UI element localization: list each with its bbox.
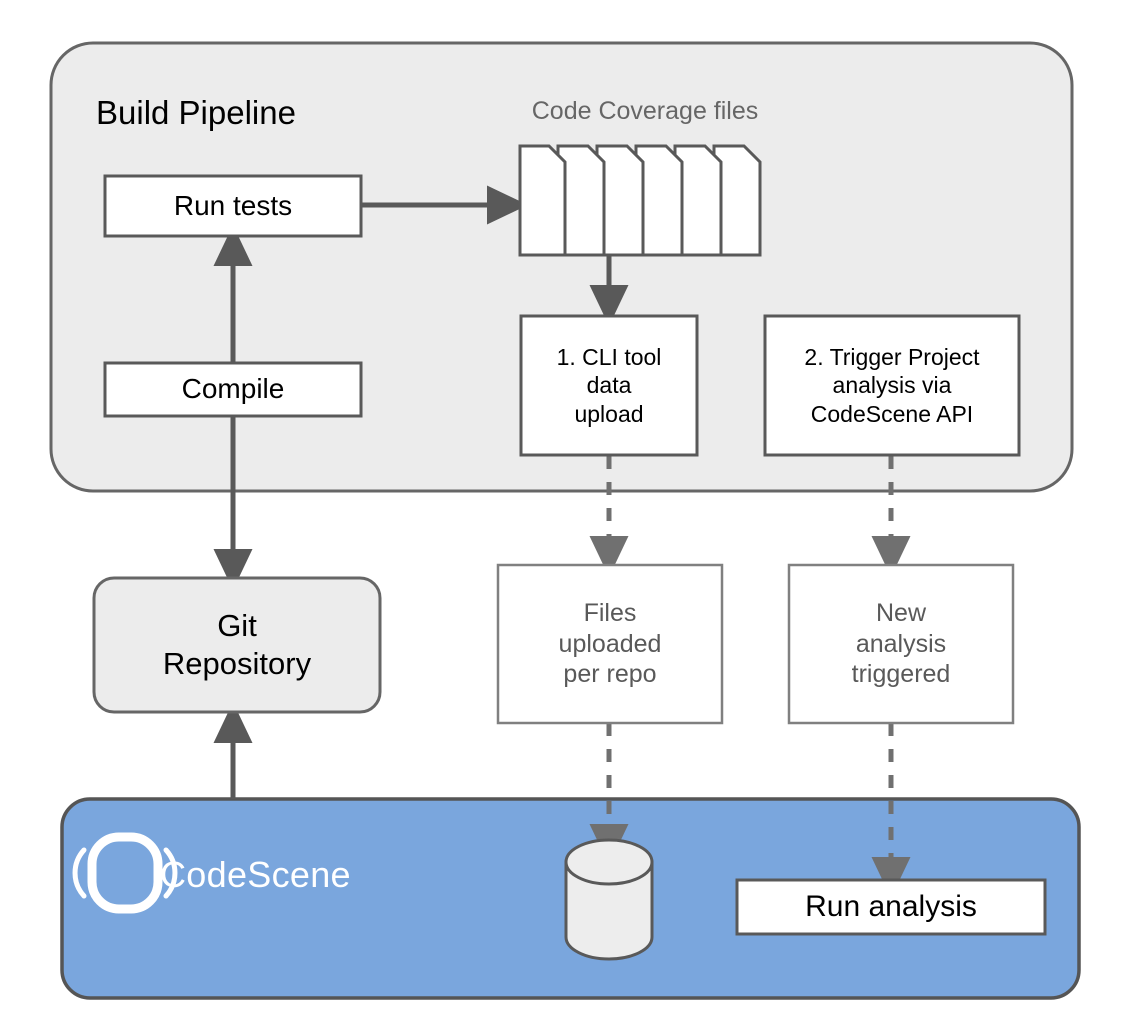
files-uploaded-box	[498, 565, 722, 723]
git-repository-box[interactable]	[94, 578, 380, 712]
diagram-canvas: Build Pipeline Code Coverage files Run t…	[0, 0, 1134, 1036]
run-tests-box[interactable]	[105, 176, 361, 236]
new-analysis-box	[789, 565, 1013, 723]
coverage-files-icon	[520, 146, 760, 255]
trigger-api-box[interactable]	[765, 316, 1019, 455]
cli-upload-box[interactable]	[521, 316, 697, 455]
compile-box[interactable]	[105, 363, 361, 416]
run-analysis-box[interactable]	[737, 880, 1045, 934]
database-cylinder-icon	[566, 840, 652, 959]
diagram-svg	[0, 0, 1134, 1036]
